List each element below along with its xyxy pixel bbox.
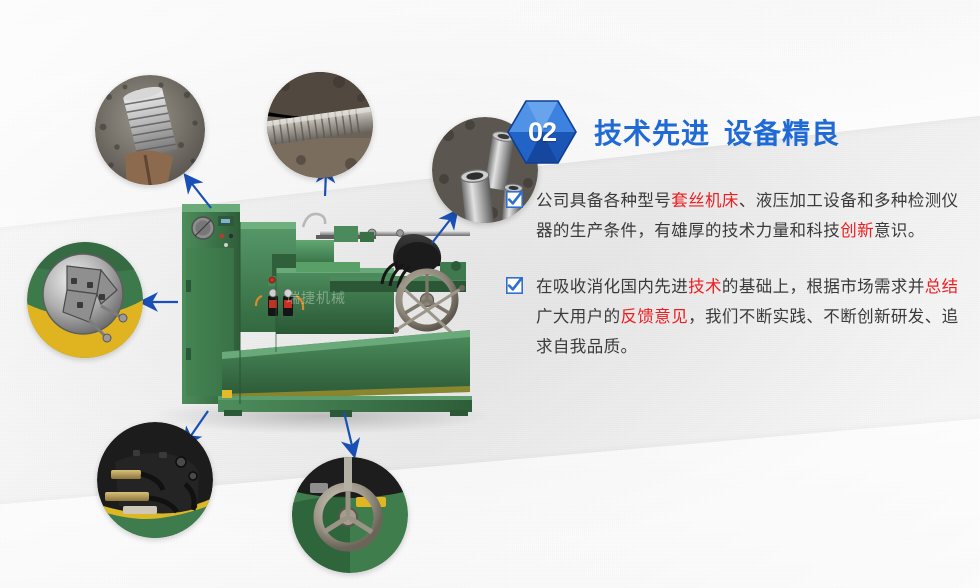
- bullet-text-1: 公司具备各种型号套丝机床、液压加工设备和多种检测仪器的生产条件，有雄厚的技术力量…: [536, 186, 972, 246]
- bullet-1-seg-3: 创新: [840, 221, 874, 240]
- bullet-2-seg-4: 广大用户的: [536, 307, 621, 326]
- bullet-1-seg-1: 套丝机床: [671, 191, 739, 210]
- bullet-2-seg-1: 技术: [688, 277, 722, 296]
- page-title: 技术先进设备精良: [594, 112, 840, 152]
- badge-number: 02: [506, 99, 578, 165]
- content-panel: 02 技术先进设备精良 公司具备各种型号套丝机床、液压加工设备和多种检测仪器的生…: [506, 96, 972, 388]
- callout-cutting-head[interactable]: [27, 242, 143, 358]
- bullet-2-seg-5: 反馈意见: [621, 307, 689, 326]
- product-illustration: 瑞捷机械: [0, 0, 506, 588]
- machine-body: [182, 204, 472, 417]
- bullet-2-seg-3: 总结: [925, 277, 959, 296]
- bullet-item-1: 公司具备各种型号套丝机床、液压加工设备和多种检测仪器的生产条件，有雄厚的技术力量…: [506, 186, 972, 246]
- title-part-1: 技术先进: [594, 117, 710, 150]
- title-part-2: 设备精良: [724, 117, 840, 150]
- checkbox-checked-icon[interactable]: [506, 277, 523, 294]
- promo-banner: 瑞捷机械: [0, 0, 980, 588]
- bullet-text-2: 在吸收消化国内先进技术的基础上，根据市场需求并总结广大用户的反馈意见，我们不断实…: [536, 272, 972, 362]
- checkbox-checked-icon[interactable]: [506, 191, 523, 208]
- bullet-2-seg-2: 的基础上，根据市场需求并: [722, 277, 925, 296]
- section-heading: 02 技术先进设备精良: [506, 96, 972, 168]
- callout-hydraulic-valves[interactable]: [97, 422, 213, 538]
- callout-threaded-rod-closeup[interactable]: [95, 75, 205, 185]
- section-number-badge: 02: [506, 99, 578, 165]
- callout-handwheel[interactable]: [292, 457, 408, 573]
- bullet-item-2: 在吸收消化国内先进技术的基础上，根据市场需求并总结广大用户的反馈意见，我们不断实…: [506, 272, 972, 362]
- callout-threaded-bar[interactable]: [267, 72, 373, 178]
- bullet-2-seg-0: 在吸收消化国内先进: [536, 277, 688, 296]
- bullet-1-seg-4: 意识。: [874, 221, 925, 240]
- bullet-1-seg-0: 公司具备各种型号: [536, 191, 671, 210]
- bullet-list: 公司具备各种型号套丝机床、液压加工设备和多种检测仪器的生产条件，有雄厚的技术力量…: [506, 186, 972, 362]
